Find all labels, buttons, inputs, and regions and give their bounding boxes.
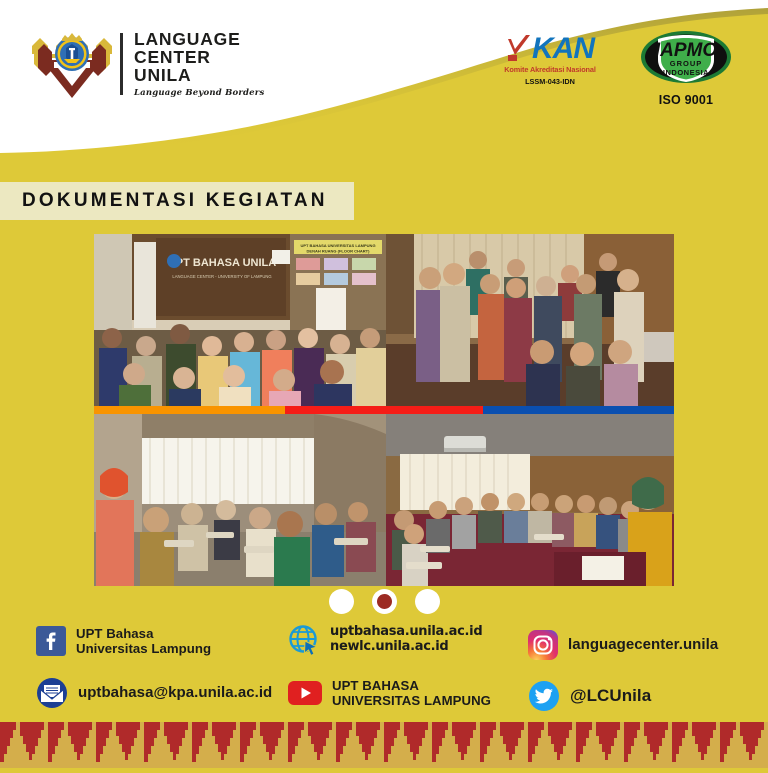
facebook-icon	[36, 626, 66, 656]
email-envelope-icon	[36, 677, 68, 709]
social-twitter[interactable]: @LCUnila	[528, 680, 651, 712]
carousel-dot-3[interactable]	[415, 589, 440, 614]
website-line-2: newlc.unila.ac.id	[330, 640, 482, 655]
photo-classroom-workshop-seated[interactable]	[94, 414, 386, 586]
twitter-bird-icon	[528, 680, 560, 712]
svg-text:LANGUAGE CENTER - UNIVERSITY O: LANGUAGE CENTER - UNIVERSITY OF LAMPUNG	[172, 274, 271, 279]
tapis-pattern-svg	[0, 722, 768, 768]
unila-language-center-logo-icon	[28, 28, 116, 100]
globe-cursor-icon	[288, 624, 320, 656]
photo-seminar-room-circle-discussion[interactable]	[386, 414, 674, 586]
certification-badges: KAN Komite Akreditasi Nasional LSSM-043-…	[490, 30, 734, 107]
svg-text:GROUP: GROUP	[670, 59, 703, 68]
social-media-footer: UPT Bahasa Universitas Lampung uptbahasa…	[0, 622, 768, 712]
logo-line-1: LANGUAGE	[134, 30, 264, 48]
kan-badge: KAN Komite Akreditasi Nasional LSSM-043-…	[490, 30, 610, 86]
svg-text:INDONESIA: INDONESIA	[663, 68, 709, 77]
red-segment	[285, 406, 482, 414]
color-separator-bar	[94, 406, 674, 414]
youtube-line-1: UPT BAHASA	[332, 678, 491, 693]
social-website[interactable]: uptbahasa.unila.ac.id newlc.unila.ac.id	[288, 624, 482, 656]
orange-segment	[94, 406, 285, 414]
carousel-dot-1[interactable]	[329, 589, 354, 614]
social-youtube[interactable]: UPT BAHASA UNIVERSITAS LAMPUNG	[288, 678, 491, 708]
brand-logo: LANGUAGE CENTER UNILA Language Beyond Bo…	[28, 28, 264, 100]
page-header: LANGUAGE CENTER UNILA Language Beyond Bo…	[0, 0, 768, 175]
email-address: uptbahasa@kpa.unila.ac.id	[78, 684, 272, 701]
youtube-icon	[288, 681, 322, 705]
twitter-handle: @LCUnila	[570, 686, 651, 705]
social-email[interactable]: uptbahasa@kpa.unila.ac.id	[36, 677, 272, 709]
instagram-icon	[528, 630, 558, 660]
youtube-line-2: UNIVERSITAS LAMPUNG	[332, 693, 491, 708]
photo-collage: UPT BAHASA UNILA LANGUAGE CENTER - UNIVE…	[94, 234, 674, 586]
instagram-handle: languagecenter.unila	[568, 636, 718, 653]
svg-text:IAPMO: IAPMO	[655, 40, 718, 61]
page-title: DOKUMENTASI KEGIATAN	[22, 190, 328, 212]
iapmo-group-indonesia-logo-icon: IAPMO GROUP INDONESIA	[640, 30, 732, 86]
logo-line-3: UNILA	[134, 66, 264, 84]
kan-code: LSSM-043-IDN	[490, 77, 610, 86]
facebook-line-2: Universitas Lampung	[76, 641, 211, 656]
photo-group-upt-bahasa-unila-signage[interactable]: UPT BAHASA UNILA LANGUAGE CENTER - UNIVE…	[94, 234, 386, 406]
logo-tagline: Language Beyond Borders	[134, 88, 264, 98]
facebook-line-1: UPT Bahasa	[76, 626, 211, 641]
photo-group-participants-heart-pose[interactable]	[386, 234, 674, 406]
logo-line-2: CENTER	[134, 48, 264, 66]
svg-text:UPT BAHASA UNILA: UPT BAHASA UNILA	[168, 257, 276, 269]
website-line-1: uptbahasa.unila.ac.id	[330, 625, 482, 640]
kan-subtitle: Komite Akreditasi Nasional	[490, 65, 610, 74]
carousel-dots[interactable]	[0, 589, 768, 614]
social-facebook[interactable]: UPT Bahasa Universitas Lampung	[36, 626, 211, 656]
kan-checkmark-icon	[506, 35, 532, 63]
iapmo-iso-standard: ISO 9001	[638, 93, 734, 107]
svg-text:DENAH RUANG (FLOOR CHART): DENAH RUANG (FLOOR CHART)	[307, 249, 371, 254]
svg-text:UPT BAHASA UNIVERSITAS LAMPUNG: UPT BAHASA UNIVERSITAS LAMPUNG	[300, 243, 375, 248]
page-title-banner: DOKUMENTASI KEGIATAN	[0, 182, 354, 220]
logo-divider	[120, 33, 123, 95]
kan-wordmark: KAN	[532, 34, 594, 64]
social-instagram[interactable]: languagecenter.unila	[528, 630, 718, 660]
carousel-dot-2[interactable]	[372, 589, 397, 614]
iapmo-badge: IAPMO GROUP INDONESIA ISO 9001	[638, 30, 734, 107]
lampung-tapis-border-pattern	[0, 722, 768, 768]
blue-segment	[483, 406, 674, 414]
